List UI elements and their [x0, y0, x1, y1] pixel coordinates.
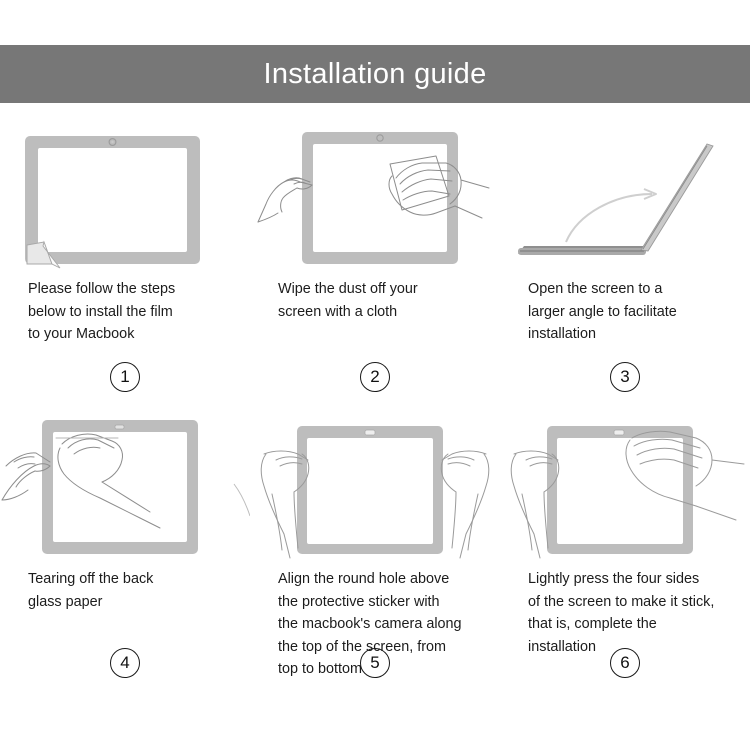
step-panel-6: Lightly press the four sides of the scre…	[500, 408, 750, 658]
step-number-badge: 3	[610, 362, 640, 392]
step-panel-2: Wipe the dust off your screen with a clo…	[250, 118, 500, 323]
step-6-number-wrap: 6	[500, 648, 750, 678]
step-panel-3: Open the screen to a larger angle to fac…	[500, 118, 750, 346]
step-2-illustration	[250, 118, 500, 278]
step-2-caption: Wipe the dust off your screen with a clo…	[250, 278, 500, 323]
step-4-number-wrap: 4	[0, 648, 250, 678]
step-4-caption: Tearing off the back glass paper	[0, 568, 250, 613]
step-4-illustration	[0, 408, 250, 568]
page-title: Installation guide	[263, 58, 486, 91]
step-3-number-wrap: 3	[500, 362, 750, 392]
step-1-caption: Please follow the steps below to install…	[0, 278, 250, 346]
hands-tearing-back-paper-icon	[0, 408, 250, 568]
step-2-number-wrap: 2	[250, 362, 500, 392]
step-number-badge: 6	[610, 648, 640, 678]
step-number-badge: 4	[110, 648, 140, 678]
steps-grid: Please follow the steps below to install…	[0, 118, 750, 738]
hand-pressing-screen-icon	[500, 408, 750, 568]
installation-guide-page: Installation guide Plea	[0, 0, 750, 750]
step-6-illustration	[500, 408, 750, 568]
hand-wiping-screen-with-cloth-icon	[250, 118, 500, 278]
step-3-illustration	[500, 118, 750, 278]
header-banner: Installation guide	[0, 45, 750, 103]
step-5-number-wrap: 5	[250, 648, 500, 678]
step-panel-1: Please follow the steps below to install…	[0, 118, 250, 346]
step-6-caption: Lightly press the four sides of the scre…	[500, 568, 750, 658]
tablet-with-peeling-film-corner-icon	[0, 118, 250, 278]
step-1-illustration	[0, 118, 250, 278]
step-1-number-wrap: 1	[0, 362, 250, 392]
step-number-badge: 2	[360, 362, 390, 392]
step-number-badge: 5	[360, 648, 390, 678]
step-panel-5: Align the round hole above the protectiv…	[250, 408, 500, 681]
step-5-illustration	[250, 408, 500, 568]
laptop-opening-angle-arrow-icon	[500, 118, 750, 278]
step-panel-4: Tearing off the back glass paper 4	[0, 408, 250, 613]
two-hands-aligning-film-icon	[250, 408, 500, 568]
step-number-badge: 1	[110, 362, 140, 392]
step-3-caption: Open the screen to a larger angle to fac…	[500, 278, 750, 346]
